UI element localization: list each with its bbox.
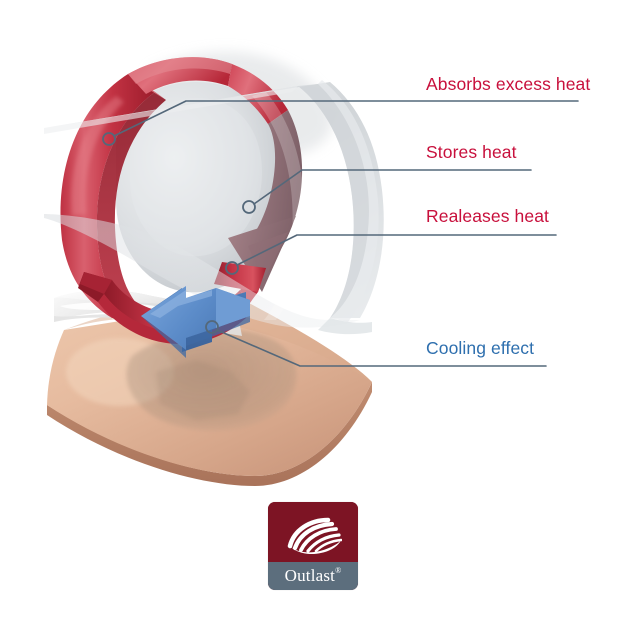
callout-label-absorbs-excess-heat: Absorbs excess heat [426, 76, 590, 94]
callout-label-stores-heat: Stores heat [426, 144, 517, 162]
diagram-canvas: Absorbs excess heat Stores heat Realease… [0, 0, 625, 625]
callout-label-releases-heat: Realeases heat [426, 208, 549, 226]
callout-label-cooling-effect: Cooling effect [426, 340, 534, 358]
registered-trademark-symbol: ® [335, 566, 341, 575]
logo-bottom-panel: Outlast® [268, 562, 358, 590]
logo-wordmark-text: Outlast [285, 566, 336, 585]
outlast-logo: Outlast® [268, 502, 358, 590]
logo-wordmark: Outlast® [285, 567, 342, 584]
outlast-swoosh-icon [286, 516, 342, 554]
